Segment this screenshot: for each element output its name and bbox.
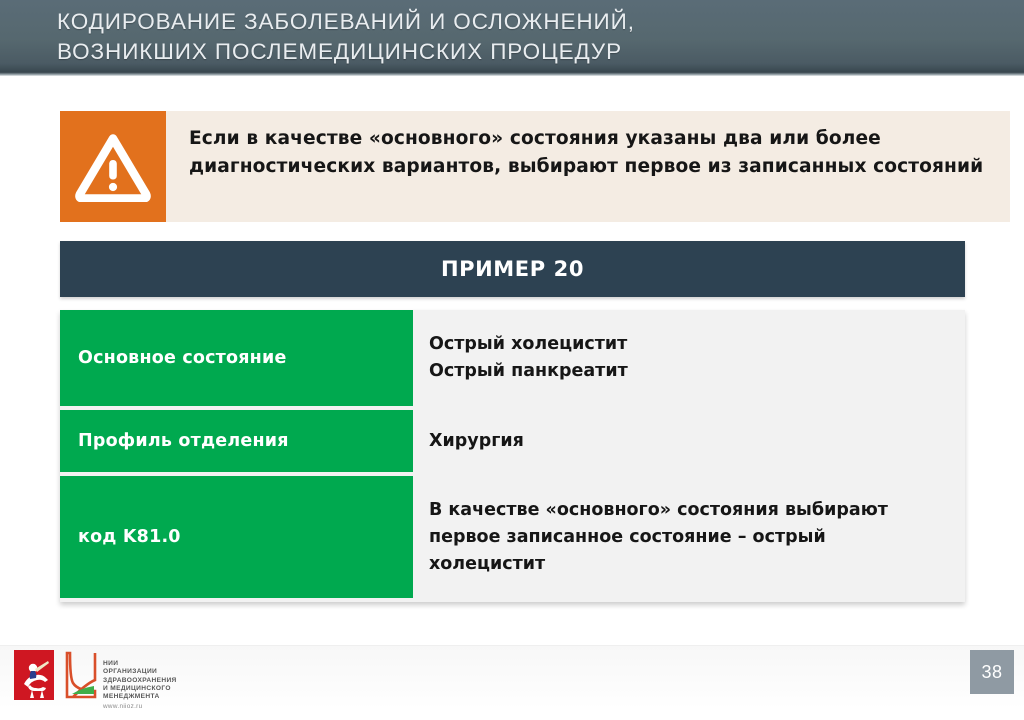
page-title: КОДИРОВАНИЕ ЗАБОЛЕВАНИЙ И ОСЛОЖНЕНИЙ, ВО… — [57, 7, 1024, 67]
table-row: код K81.0 В качестве «основного» состоян… — [60, 476, 965, 598]
table-row-label: код K81.0 — [60, 476, 413, 598]
moscow-coat-of-arms-icon — [14, 650, 54, 700]
example-table: Основное состояние Острый холецистит Ост… — [60, 310, 965, 602]
table-row-label: Основное состояние — [60, 310, 413, 406]
example-title-bar: ПРИМЕР 20 — [60, 241, 965, 297]
table-row-value: В качестве «основного» состояния выбираю… — [413, 476, 965, 598]
table-row: Профиль отделения Хирургия — [60, 410, 965, 472]
niioz-website: www.niioz.ru — [103, 703, 177, 711]
table-row-value: Хирургия — [413, 410, 965, 472]
niioz-logo: НИИ ОРГАНИЗАЦИИ ЗДРАВООХРАНЕНИЯ И МЕДИЦИ… — [64, 650, 177, 720]
slide-footer: НИИ ОРГАНИЗАЦИИ ЗДРАВООХРАНЕНИЯ И МЕДИЦИ… — [0, 645, 1024, 709]
table-row-label: Профиль отделения — [60, 410, 413, 472]
header-underline-divider — [0, 72, 1024, 76]
niioz-logo-text: НИИ ОРГАНИЗАЦИИ ЗДРАВООХРАНЕНИЯ И МЕДИЦИ… — [103, 650, 177, 720]
warning-icon-container — [60, 111, 166, 222]
table-row-value: Острый холецистит Острый панкреатит — [413, 310, 965, 406]
table-row: Основное состояние Острый холецистит Ост… — [60, 310, 965, 406]
slide-header: КОДИРОВАНИЕ ЗАБОЛЕВАНИЙ И ОСЛОЖНЕНИЙ, ВО… — [0, 0, 1024, 72]
niioz-organization-name: НИИ ОРГАНИЗАЦИИ ЗДРАВООХРАНЕНИЯ И МЕДИЦИ… — [103, 660, 177, 700]
warning-text: Если в качестве «основного» состояния ук… — [166, 111, 1010, 222]
warning-banner: Если в качестве «основного» состояния ук… — [60, 111, 1010, 222]
page-number-badge: 38 — [970, 650, 1014, 694]
niioz-mark-icon — [64, 650, 98, 700]
warning-triangle-icon — [74, 132, 152, 202]
